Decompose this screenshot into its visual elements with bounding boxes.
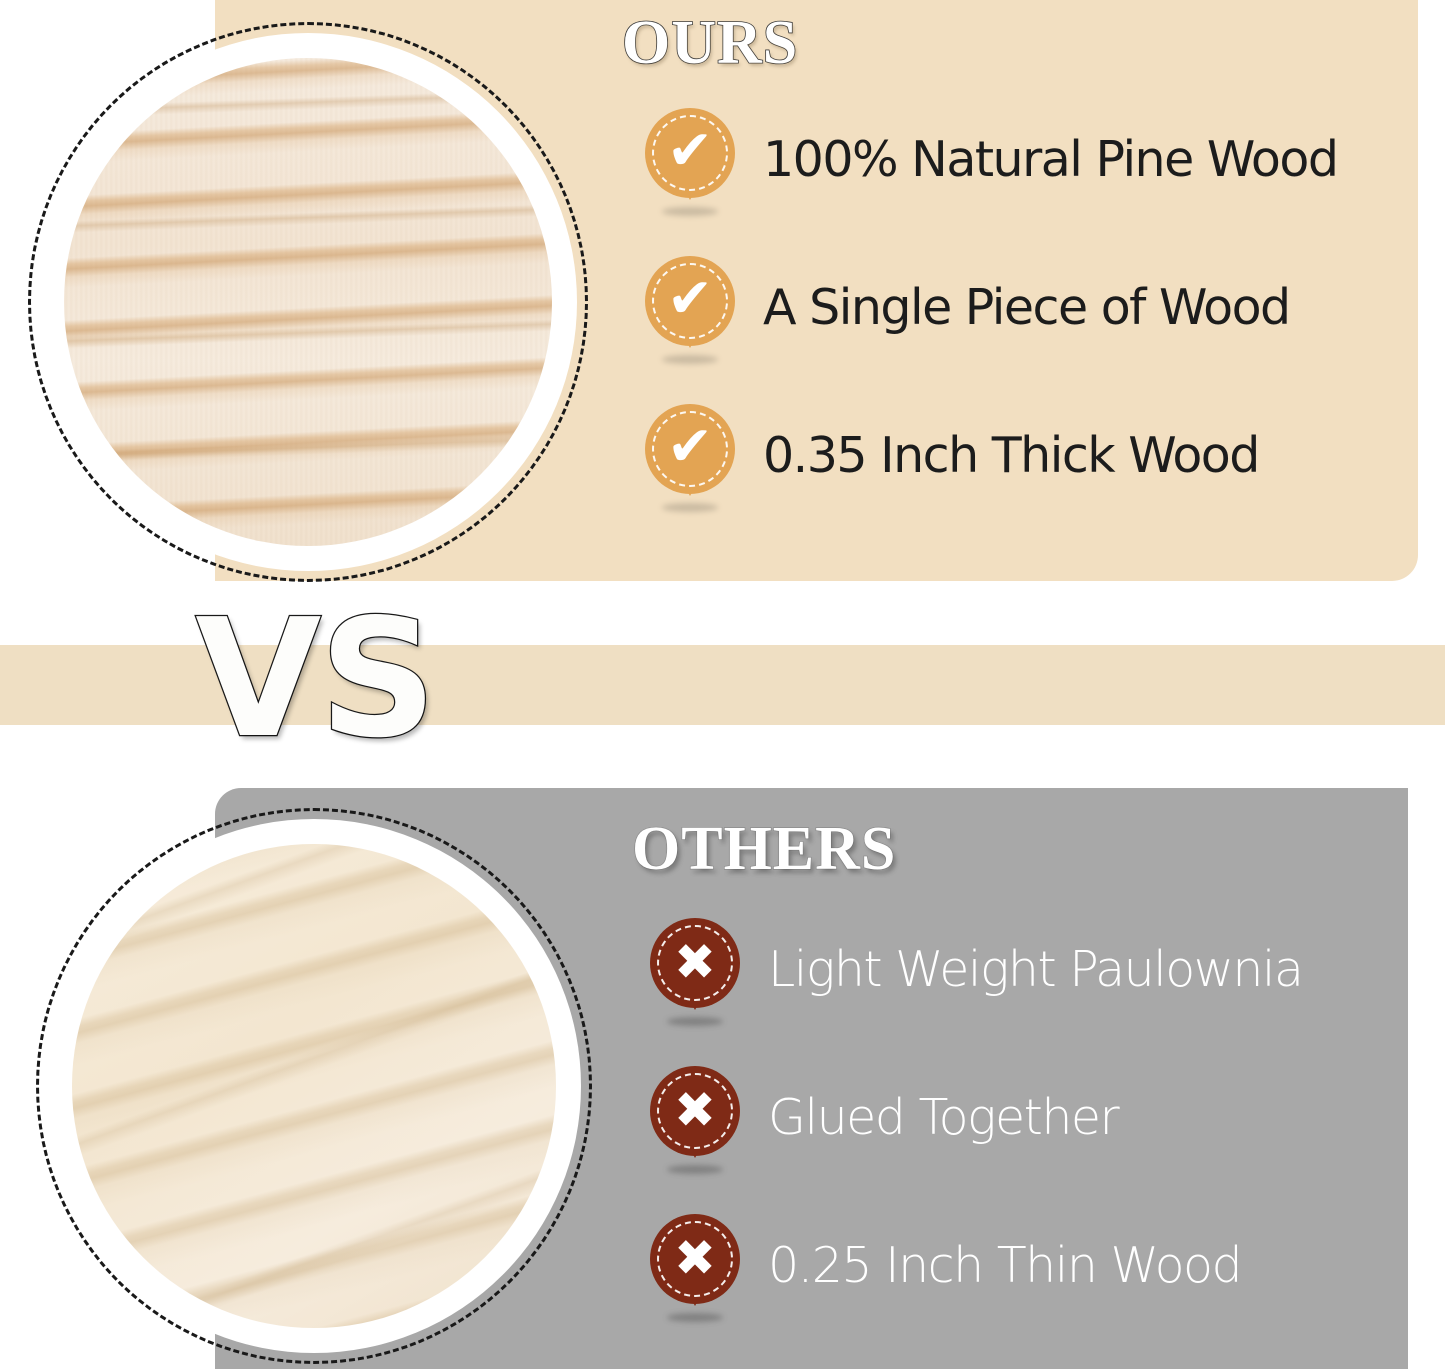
ours-feature-row: ✔ 100% Natural Pine Wood (645, 108, 1337, 212)
ours-feature-label: 100% Natural Pine Wood (763, 133, 1337, 187)
check-icon-body: ✔ (645, 256, 735, 346)
cross-icon-shadow (667, 1165, 723, 1174)
check-icon: ✔ (645, 108, 735, 212)
cross-icon: ✖ (650, 1066, 740, 1170)
cross-icon-shadow (667, 1313, 723, 1322)
check-icon-body: ✔ (645, 108, 735, 198)
others-feature-list: ✖ Light Weight Paulownia ✖ Glued Togethe… (650, 918, 1303, 1362)
ours-swatch-dashed-outline (28, 22, 588, 582)
check-icon-shadow (662, 207, 718, 216)
cross-icon-body: ✖ (650, 1214, 740, 1304)
ours-wood-swatch (28, 22, 588, 582)
cross-icon: ✖ (650, 918, 740, 1022)
cross-icon-body: ✖ (650, 1066, 740, 1156)
cross-icon-body: ✖ (650, 918, 740, 1008)
check-icon-shadow (662, 355, 718, 364)
others-swatch-dashed-outline (36, 808, 592, 1364)
ours-title: OURS (622, 12, 798, 74)
ours-feature-label: A Single Piece of Wood (763, 281, 1290, 335)
cross-icon: ✖ (650, 1214, 740, 1318)
cross-icon-glyph: ✖ (674, 1085, 716, 1135)
check-icon-shadow (662, 503, 718, 512)
others-feature-label: Light Weight Paulownia (768, 943, 1303, 997)
ours-feature-row: ✔ 0.35 Inch Thick Wood (645, 404, 1337, 508)
check-icon-glyph: ✔ (667, 419, 713, 474)
others-feature-label: Glued Together (768, 1091, 1118, 1145)
check-icon-body: ✔ (645, 404, 735, 494)
cross-icon-shadow (667, 1017, 723, 1026)
others-feature-row: ✖ 0.25 Inch Thin Wood (650, 1214, 1303, 1318)
check-icon: ✔ (645, 404, 735, 508)
check-icon-glyph: ✔ (667, 123, 713, 178)
ours-feature-label: 0.35 Inch Thick Wood (763, 429, 1259, 483)
ours-feature-row: ✔ A Single Piece of Wood (645, 256, 1337, 360)
ours-feature-list: ✔ 100% Natural Pine Wood ✔ A Single Piec… (645, 108, 1337, 552)
others-title: OTHERS (632, 818, 896, 880)
others-feature-row: ✖ Glued Together (650, 1066, 1303, 1170)
vs-label: VS (170, 600, 460, 760)
check-icon-glyph: ✔ (667, 271, 713, 326)
others-wood-swatch (36, 808, 592, 1364)
others-feature-row: ✖ Light Weight Paulownia (650, 918, 1303, 1022)
others-feature-label: 0.25 Inch Thin Wood (768, 1239, 1241, 1293)
check-icon: ✔ (645, 256, 735, 360)
cross-icon-glyph: ✖ (674, 1233, 716, 1283)
cross-icon-glyph: ✖ (674, 937, 716, 987)
